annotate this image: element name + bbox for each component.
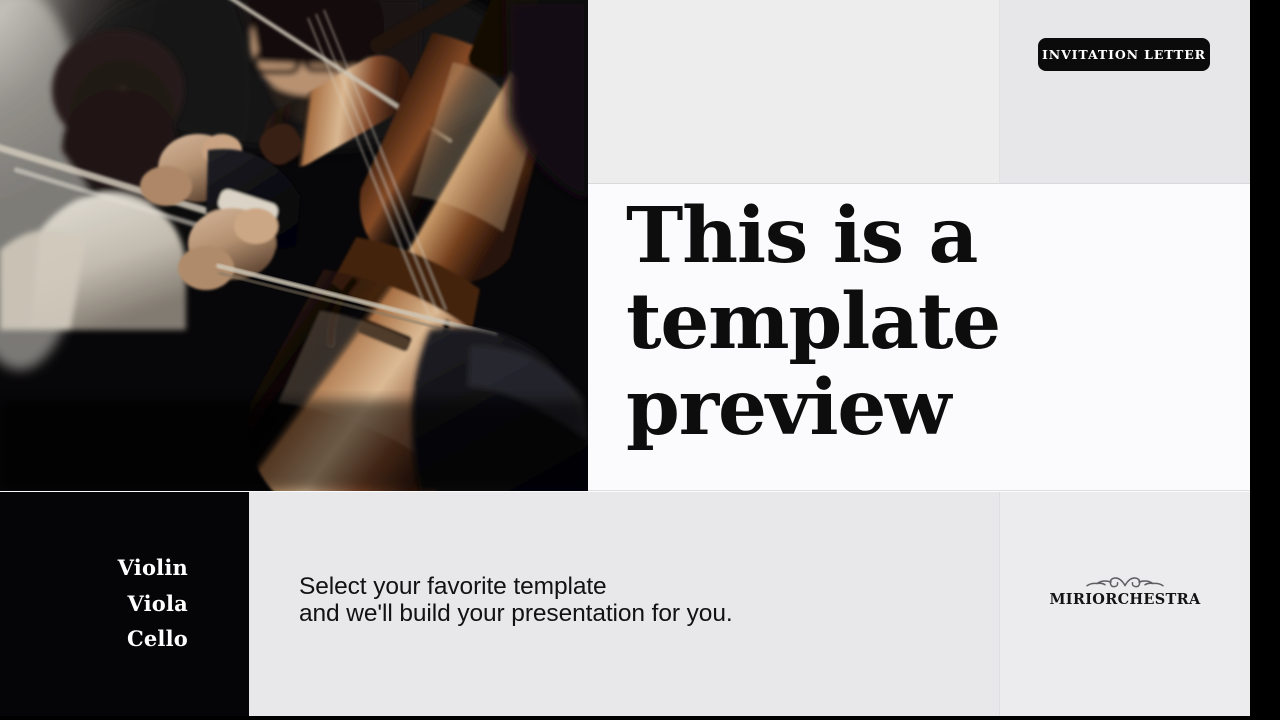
page-title: This is a template preview — [626, 193, 1226, 451]
instrument-panel: Violin Viola Cello — [0, 492, 249, 716]
right-border-band — [1250, 0, 1280, 720]
bottom-border-band — [0, 716, 1280, 720]
list-item: Violin — [0, 550, 188, 586]
lead-text-panel: Select your favorite template and we'll … — [249, 492, 1000, 716]
invitation-letter-button[interactable]: INVITATION LETTER — [1038, 38, 1210, 71]
orchestra-photo — [0, 0, 588, 491]
lead-text: Select your favorite template and we'll … — [299, 574, 733, 627]
top-right-panel: INVITATION LETTER — [1000, 0, 1250, 184]
flourish-ornament-icon — [1077, 570, 1173, 590]
list-item: Cello — [0, 621, 188, 657]
orchestra-photo-image — [0, 0, 588, 491]
top-middle-panel — [588, 0, 1000, 184]
presentation-slide: INVITATION LETTER This is a template pre… — [0, 0, 1250, 716]
list-item: Viola — [0, 586, 188, 622]
headline-panel: This is a template preview — [588, 185, 1250, 491]
brand-wordmark: MIRIORCHESTRA — [1000, 591, 1250, 608]
instrument-list: Violin Viola Cello — [0, 550, 188, 657]
logo-panel: MIRIORCHESTRA — [1000, 492, 1250, 716]
brand-logo: MIRIORCHESTRA — [1000, 570, 1250, 608]
